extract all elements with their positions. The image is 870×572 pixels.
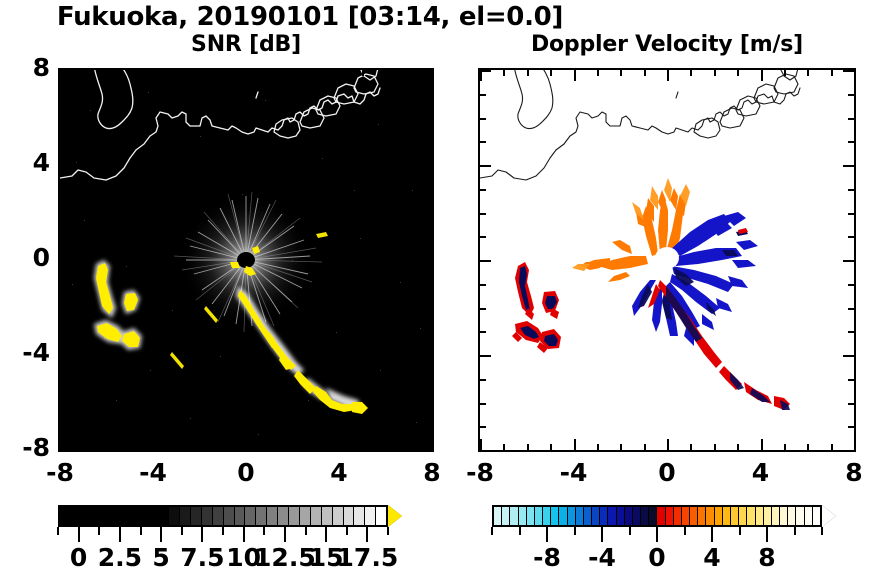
colorbar-tick [98, 527, 100, 535]
x-tick-dop [550, 444, 552, 450]
x-tick-top-dop [597, 70, 599, 76]
y-tick-dop [480, 403, 486, 405]
x-tick-label-dop-2: 0 [627, 458, 707, 487]
x-tick-top-snr [409, 70, 411, 76]
colorbar-segment [278, 507, 289, 525]
colorbar-segment [115, 507, 126, 525]
colorbar-tick [325, 527, 327, 542]
x-tick-snr [386, 444, 388, 450]
x-tick-top-snr [246, 70, 248, 81]
x-tick-dop [527, 444, 529, 450]
colorbar-tick [160, 527, 162, 542]
colorbar-segment [527, 507, 535, 525]
colorbar-segment [535, 507, 543, 525]
colorbar-tick [119, 527, 121, 542]
colorbar-segment [224, 507, 235, 525]
doppler-plot-area [480, 70, 854, 450]
x-tick-label-dop-0: -8 [440, 458, 520, 487]
colorbar-segment [289, 507, 300, 525]
colorbar-segment [213, 507, 224, 525]
y-tick-snr [60, 308, 66, 310]
colorbar-tick [284, 527, 286, 542]
x-tick-top-snr [339, 70, 341, 81]
y-tick-dop [480, 118, 486, 120]
x-tick-snr [293, 444, 295, 450]
colorbar-segment [93, 507, 104, 525]
x-tick-top-dop [690, 70, 692, 76]
colorbar-tick [305, 527, 307, 535]
x-tick-label-snr-0: -8 [20, 458, 100, 487]
y-tick-snr [60, 355, 71, 357]
x-tick-snr [60, 439, 62, 450]
y-tick-right-dop [843, 165, 854, 167]
colorbar-segment [592, 507, 600, 525]
x-tick-snr [176, 444, 178, 450]
y-tick-label-3: -4 [4, 338, 50, 367]
colorbar-segment [788, 507, 796, 525]
colorbar-tick [140, 527, 142, 535]
x-tick-snr [130, 444, 132, 450]
colorbar-segment [494, 507, 502, 525]
colorbar-segment [649, 507, 657, 525]
x-tick-top-snr [83, 70, 85, 76]
y-tick-snr [60, 331, 66, 333]
doppler-plot-panel[interactable] [478, 68, 856, 452]
colorbar-segment [617, 507, 625, 525]
y-tick-snr [60, 236, 66, 238]
y-tick-right-dop [843, 260, 854, 262]
y-tick-snr [60, 379, 66, 381]
colorbar-tick [794, 527, 796, 535]
x-tick-snr [432, 439, 434, 450]
x-tick-dop [807, 444, 809, 450]
x-tick-label-dop-1: -4 [534, 458, 614, 487]
colorbar-segment [584, 507, 592, 525]
y-tick-right-dop [848, 331, 854, 333]
colorbar-segment [739, 507, 747, 525]
x-tick-label-dop-4: 8 [814, 458, 870, 487]
x-tick-snr [246, 439, 248, 450]
x-tick-top-dop [807, 70, 809, 76]
colorbar-segment [633, 507, 641, 525]
x-tick-top-snr [176, 70, 178, 76]
x-tick-snr [316, 444, 318, 450]
y-tick-snr [60, 141, 66, 143]
x-tick-dop [503, 444, 505, 450]
y-tick-right-snr [426, 236, 432, 238]
x-tick-top-dop [761, 70, 763, 81]
x-tick-top-snr [316, 70, 318, 76]
x-tick-dop [737, 444, 739, 450]
colorbar-tick [711, 527, 713, 542]
colorbar-arrow-right [388, 505, 402, 527]
y-tick-snr [60, 70, 71, 72]
y-tick-dop [480, 260, 491, 262]
y-tick-dop [480, 236, 486, 238]
x-tick-dop [831, 444, 833, 450]
y-tick-right-snr [426, 118, 432, 120]
y-tick-snr [60, 284, 66, 286]
y-tick-right-dop [848, 94, 854, 96]
x-tick-dop [761, 439, 763, 450]
colorbar-tick [366, 527, 368, 542]
x-tick-snr [107, 444, 109, 450]
y-tick-dop [480, 426, 486, 428]
colorbar-tick [387, 527, 389, 535]
x-tick-top-dop [644, 70, 646, 76]
colorbar-segment [245, 507, 256, 525]
y-tick-dop [480, 450, 491, 452]
colorbar-tick [181, 527, 183, 535]
colorbar-tick [656, 527, 658, 542]
y-tick-snr [60, 213, 66, 215]
colorbar-segment [354, 507, 365, 525]
snr-plot-svg [60, 70, 432, 450]
x-tick-dop [574, 439, 576, 450]
x-tick-dop [644, 444, 646, 450]
colorbar-arrow-right [822, 505, 836, 527]
y-tick-right-dop [848, 426, 854, 428]
y-tick-dop [480, 94, 486, 96]
x-tick-top-dop [667, 70, 669, 81]
y-tick-right-dop [848, 213, 854, 215]
colorbar-segment [772, 507, 780, 525]
x-tick-top-dop [574, 70, 576, 81]
y-tick-right-dop [848, 308, 854, 310]
y-tick-right-snr [426, 308, 432, 310]
y-tick-snr [60, 118, 66, 120]
x-tick-label-snr-1: -4 [113, 458, 193, 487]
colorbar-segment [674, 507, 682, 525]
colorbar-segment [805, 507, 813, 525]
y-tick-right-snr [426, 379, 432, 381]
x-tick-top-snr [200, 70, 202, 76]
x-tick-top-snr [153, 70, 155, 81]
y-tick-right-dop [843, 450, 854, 452]
y-tick-snr [60, 189, 66, 191]
y-tick-dop [480, 70, 491, 72]
colorbar-arrow-left [478, 505, 492, 527]
colorbar-segment [682, 507, 690, 525]
x-tick-dop [620, 444, 622, 450]
colorbar-segment [267, 507, 278, 525]
y-tick-right-dop [843, 355, 854, 357]
colorbar-segment [796, 507, 804, 525]
y-tick-right-dop [848, 403, 854, 405]
x-tick-top-snr [362, 70, 364, 76]
colorbar-segment [300, 507, 311, 525]
x-tick-label-snr-3: 4 [299, 458, 379, 487]
x-tick-label-snr-2: 0 [206, 458, 286, 487]
page-title: Fukuoka, 20190101 [03:14, el=0.0] [0, 2, 620, 32]
colorbar-tick [519, 527, 521, 535]
colorbar-segment [82, 507, 93, 525]
x-tick-snr [223, 444, 225, 450]
colorbar-segment [780, 507, 788, 525]
y-tick-dop [480, 141, 486, 143]
y-tick-snr [60, 403, 66, 405]
x-tick-top-dop [831, 70, 833, 76]
y-tick-dop [480, 189, 486, 191]
x-tick-top-dop [737, 70, 739, 76]
y-tick-right-snr [421, 355, 432, 357]
colorbar-tick [346, 527, 348, 535]
x-tick-dop [480, 439, 482, 450]
x-tick-top-dop [854, 70, 856, 81]
x-tick-top-dop [527, 70, 529, 76]
y-tick-right-snr [426, 331, 432, 333]
panel-title-snr: SNR [dB] [58, 32, 434, 57]
y-tick-dop [480, 355, 491, 357]
x-tick-dop [690, 444, 692, 450]
colorbar-segment [60, 507, 71, 525]
colorbar-tick [243, 527, 245, 542]
colorbar-tick [491, 527, 493, 535]
colorbar-tick [201, 527, 203, 542]
x-tick-top-snr [386, 70, 388, 76]
colorbar-segment [706, 507, 714, 525]
x-tick-snr [153, 439, 155, 450]
colorbar-segment [376, 507, 386, 525]
x-tick-dop [667, 439, 669, 450]
snr-plot-area [60, 70, 432, 450]
y-tick-snr [60, 426, 66, 428]
colorbar-tick [78, 527, 80, 542]
colorbar-segment [311, 507, 322, 525]
x-tick-dop [597, 444, 599, 450]
y-tick-dop [480, 331, 486, 333]
colorbar-tick [684, 527, 686, 535]
y-tick-right-dop [848, 189, 854, 191]
y-tick-right-snr [426, 284, 432, 286]
x-tick-top-dop [714, 70, 716, 76]
colorbar-tick [222, 527, 224, 535]
y-tick-right-dop [843, 70, 854, 72]
x-tick-top-dop [550, 70, 552, 76]
y-tick-right-dop [848, 379, 854, 381]
colorbar-segment [666, 507, 674, 525]
colorbar-tick-label: 17.5 [327, 543, 407, 572]
colorbar-tick [601, 527, 603, 542]
y-tick-label-2: 0 [4, 243, 50, 272]
colorbar-segment [180, 507, 191, 525]
x-tick-top-dop [503, 70, 505, 76]
y-tick-right-dop [848, 284, 854, 286]
y-tick-right-snr [426, 141, 432, 143]
figure-canvas: Fukuoka, 20190101 [03:14, el=0.0] SNR [d… [0, 0, 870, 570]
colorbar-segment [756, 507, 764, 525]
colorbar-segment [169, 507, 180, 525]
colorbar-segment [641, 507, 649, 525]
doppler-colorbar[interactable] [478, 505, 836, 527]
x-tick-top-dop [620, 70, 622, 76]
colorbar-segment [543, 507, 551, 525]
y-tick-right-snr [426, 94, 432, 96]
y-tick-label-1: 4 [4, 148, 50, 177]
y-tick-right-snr [421, 450, 432, 452]
colorbar-segment [698, 507, 706, 525]
colorbar-segment [125, 507, 136, 525]
y-tick-right-dop [848, 141, 854, 143]
colorbar-segment [764, 507, 772, 525]
colorbar-segment [191, 507, 202, 525]
colorbar-segment [158, 507, 169, 525]
colorbar-segment [657, 507, 665, 525]
x-tick-label-dop-3: 4 [721, 458, 801, 487]
doppler-plot-svg [480, 70, 854, 450]
x-tick-dop [854, 439, 856, 450]
colorbar-segment [551, 507, 559, 525]
colorbar-segment [731, 507, 739, 525]
panel-title-doppler: Doppler Velocity [m/s] [478, 32, 856, 57]
y-tick-right-snr [426, 189, 432, 191]
y-tick-dop [480, 284, 486, 286]
colorbar-tick [574, 527, 576, 535]
x-tick-top-snr [293, 70, 295, 76]
y-tick-dop [480, 379, 486, 381]
y-tick-snr [60, 260, 71, 262]
x-tick-dop [714, 444, 716, 450]
y-tick-label-0: 8 [4, 53, 50, 82]
y-tick-right-snr [421, 260, 432, 262]
x-tick-dop [784, 444, 786, 450]
colorbar-segment [136, 507, 147, 525]
colorbar-segment [365, 507, 376, 525]
colorbar-segment [344, 507, 355, 525]
colorbar-segment [608, 507, 616, 525]
colorbar-segment [576, 507, 584, 525]
colorbar-segment [502, 507, 510, 525]
colorbar-segment [747, 507, 755, 525]
y-tick-right-snr [426, 403, 432, 405]
colorbar-segment [600, 507, 608, 525]
colorbar-segment [322, 507, 333, 525]
colorbar-segment [147, 507, 158, 525]
colorbar-segment [568, 507, 576, 525]
x-tick-top-snr [269, 70, 271, 76]
y-tick-label-4: -8 [4, 433, 50, 462]
y-tick-dop [480, 213, 486, 215]
colorbar-segment [519, 507, 527, 525]
y-tick-right-dop [848, 236, 854, 238]
colorbar-segment [625, 507, 633, 525]
x-tick-top-snr [107, 70, 109, 76]
x-tick-top-dop [784, 70, 786, 76]
x-tick-snr [200, 444, 202, 450]
colorbar-tick-label: 8 [727, 543, 807, 572]
x-tick-snr [409, 444, 411, 450]
y-tick-snr [60, 165, 71, 167]
colorbar-segment [104, 507, 115, 525]
colorbar-tick [766, 527, 768, 542]
colorbar-tick [821, 527, 823, 535]
colorbar-tick [546, 527, 548, 542]
colorbar-segment [715, 507, 723, 525]
x-tick-snr [83, 444, 85, 450]
x-tick-snr [269, 444, 271, 450]
y-tick-right-dop [848, 118, 854, 120]
y-tick-right-snr [421, 165, 432, 167]
y-tick-right-snr [426, 213, 432, 215]
x-tick-snr [339, 439, 341, 450]
y-tick-right-snr [421, 70, 432, 72]
colorbar-segment [813, 507, 820, 525]
colorbar-segment [690, 507, 698, 525]
x-tick-top-snr [432, 70, 434, 81]
x-tick-top-snr [130, 70, 132, 76]
colorbar-tick [629, 527, 631, 535]
x-tick-snr [362, 444, 364, 450]
colorbar-tick [57, 527, 59, 535]
colorbar-segment [510, 507, 518, 525]
colorbar-segment [723, 507, 731, 525]
colorbar-segment [256, 507, 267, 525]
colorbar-segment [71, 507, 82, 525]
colorbar-segment [333, 507, 344, 525]
y-tick-snr [60, 94, 66, 96]
snr-plot-panel[interactable] [58, 68, 434, 452]
y-tick-dop [480, 165, 491, 167]
y-tick-snr [60, 450, 71, 452]
colorbar-tick [739, 527, 741, 535]
y-tick-right-snr [426, 426, 432, 428]
x-tick-top-snr [223, 70, 225, 76]
snr-colorbar[interactable] [58, 505, 402, 527]
colorbar-segment [235, 507, 246, 525]
colorbar-tick [263, 527, 265, 535]
colorbar-segment [202, 507, 213, 525]
colorbar-segment [559, 507, 567, 525]
y-tick-dop [480, 308, 486, 310]
